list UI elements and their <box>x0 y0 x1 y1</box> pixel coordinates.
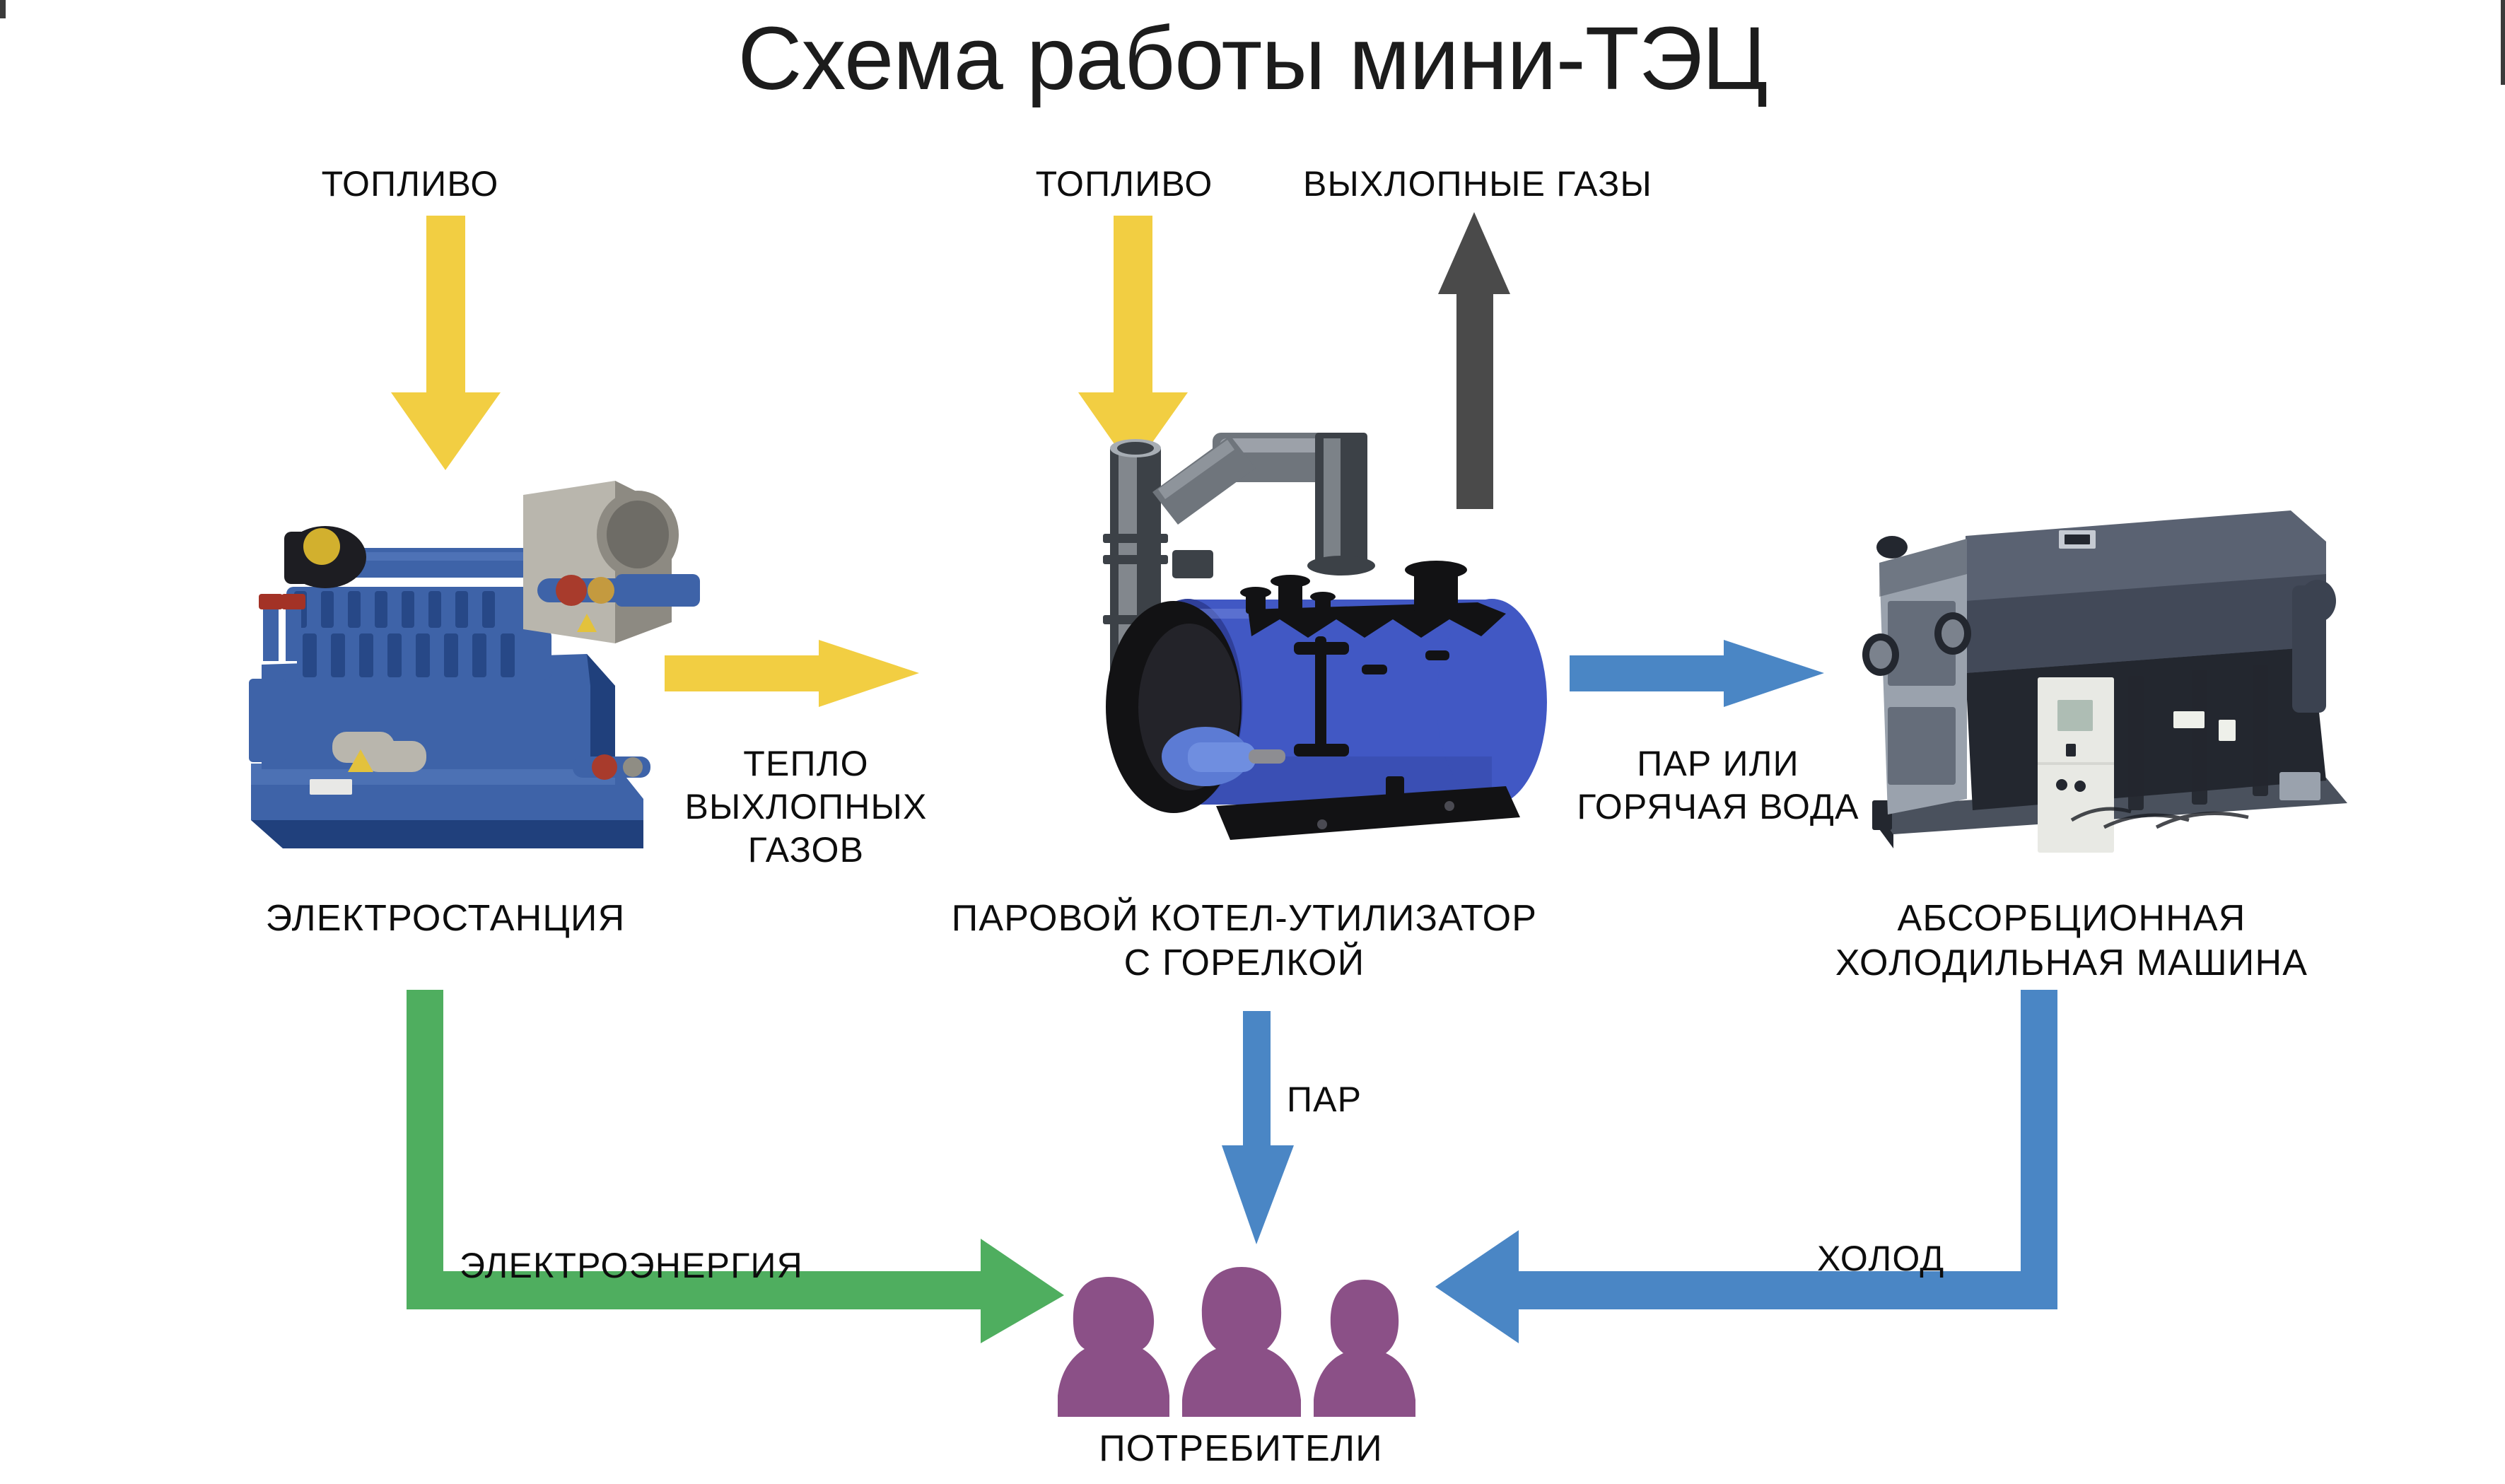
exhaust-heat-arrow <box>665 640 919 707</box>
absorption-chiller-icon <box>1859 495 2354 863</box>
label-fuel-engine: ТОПЛИВО <box>212 163 608 206</box>
people-group-icon <box>1053 1266 1428 1428</box>
gas-engine-generator-icon <box>219 452 707 863</box>
steam-down-arrow <box>1220 1011 1297 1244</box>
label-electricity: ЭЛЕКТРОЭНЕРГИЯ <box>460 1244 898 1287</box>
label-power-plant: ЭЛЕКТРОСТАНЦИЯ <box>163 896 728 941</box>
label-steam-or-hot-water: ПАР ИЛИ ГОРЯЧАЯ ВОДА <box>1520 742 1916 829</box>
page-title: Схема работы мини-ТЭЦ <box>0 7 2505 110</box>
label-waste-heat-boiler: ПАРОВОЙ КОТЕЛ-УТИЛИЗАТОР С ГОРЕЛКОЙ <box>891 896 1598 986</box>
fuel-engine-arrow <box>387 216 508 470</box>
steam-boiler-icon <box>1082 424 1577 877</box>
cold-arrow <box>1435 990 2057 1343</box>
diagram-canvas: Схема работы мини-ТЭЦ ТОПЛИВО ТОПЛИВО ВЫ… <box>0 0 2505 1484</box>
label-absorption-chiller: АБСОРБЦИОННАЯ ХОЛОДИЛЬНАЯ МАШИНА <box>1789 896 2354 986</box>
label-exhaust-gases: ВЫХЛОПНЫЕ ГАЗЫ <box>1244 163 1711 206</box>
label-steam: ПАР <box>1287 1078 1456 1121</box>
steam-hot-water-arrow <box>1570 640 1824 707</box>
electricity-arrow <box>407 990 1114 1343</box>
label-cold: ХОЛОД <box>1817 1237 2043 1280</box>
label-exhaust-heat: ТЕПЛО ВЫХЛОПНЫХ ГАЗОВ <box>650 742 962 872</box>
label-consumers: ПОТРЕБИТЕЛИ <box>1018 1427 1464 1471</box>
